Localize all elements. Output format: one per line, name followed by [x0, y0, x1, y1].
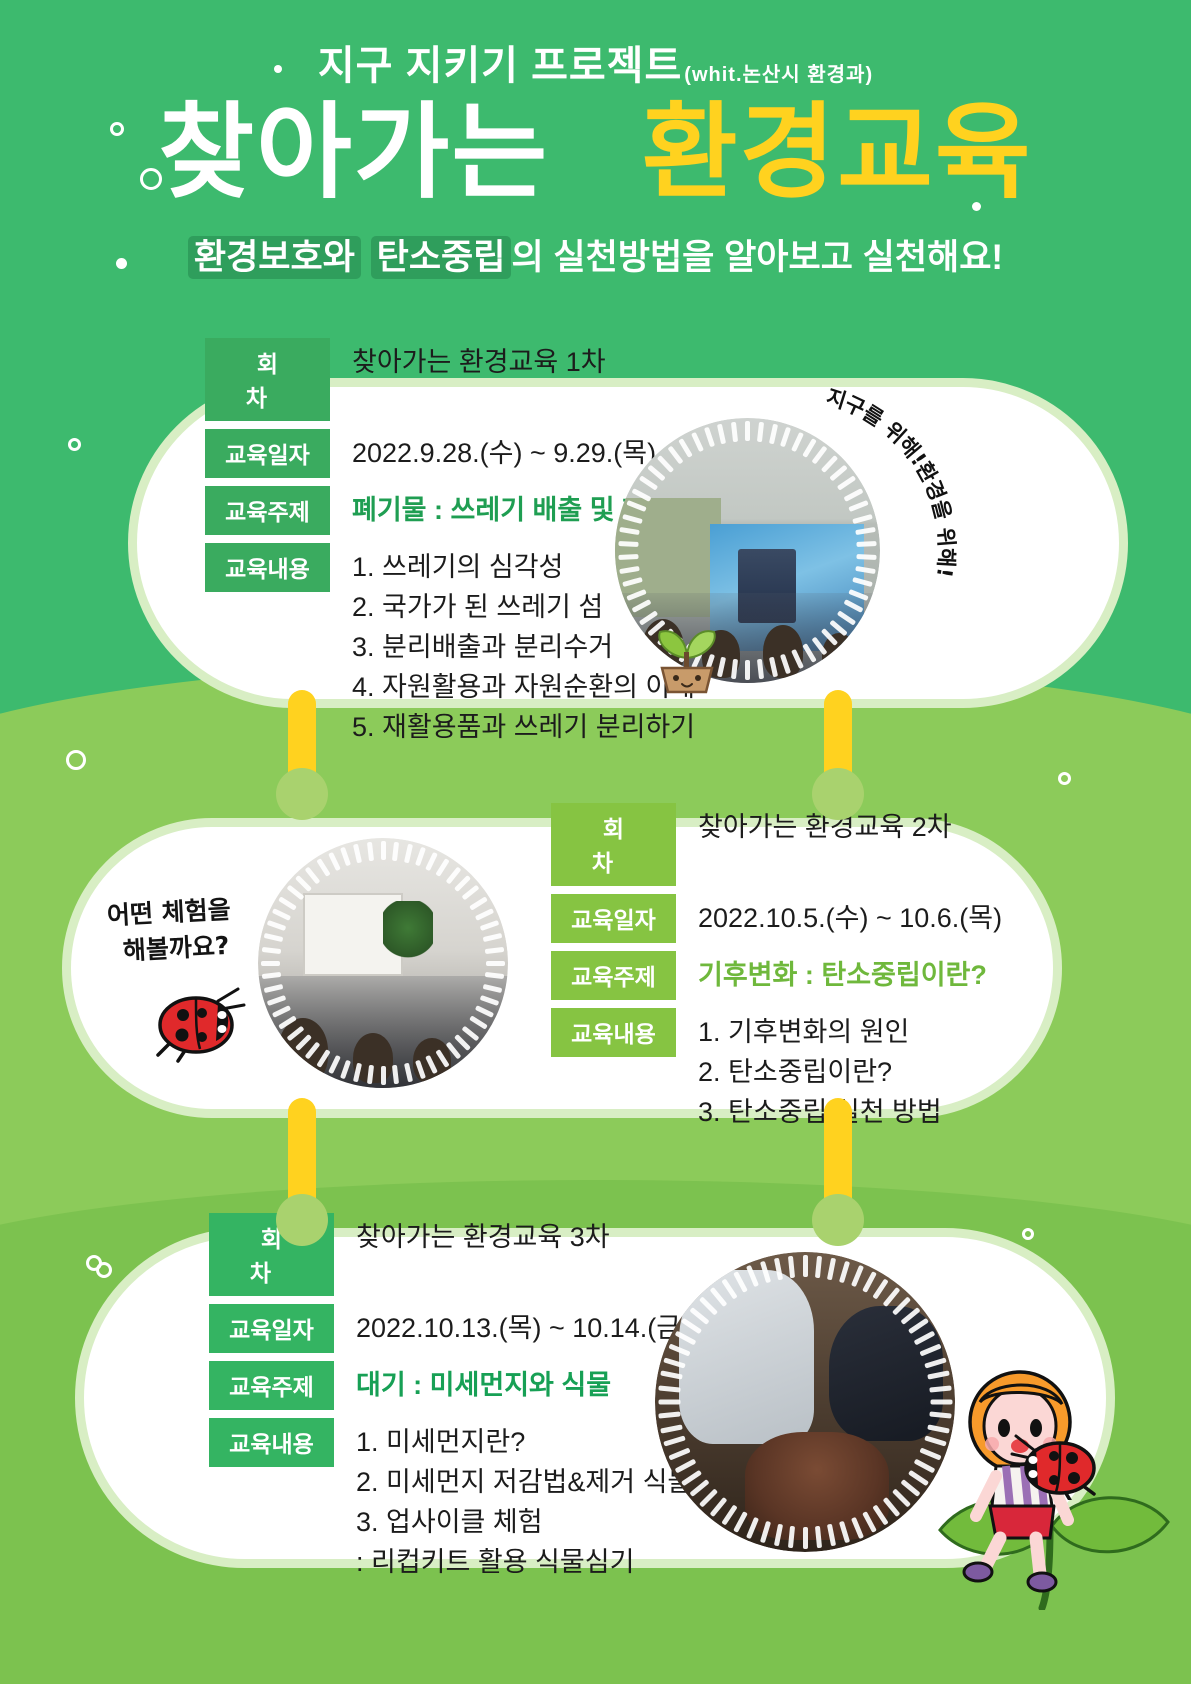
photo-tick — [618, 554, 638, 560]
value-date-2: 2022.10.5.(수) ~ 10.6.(목) — [698, 894, 1002, 937]
photo-tick — [839, 1521, 850, 1544]
label-session-1: 회 차 — [205, 338, 330, 421]
photo-tick — [862, 1511, 877, 1533]
photo-tick — [415, 847, 426, 867]
photo-tick — [316, 1049, 330, 1068]
photo-tick — [415, 1059, 426, 1079]
connector-right-2 — [808, 1098, 868, 1248]
photo-tick — [721, 1505, 737, 1526]
photo-tick — [619, 566, 640, 574]
photo-tick — [802, 643, 817, 663]
photo-tick — [827, 1257, 836, 1280]
handwriting-photo-2-line2: 해볼까요? — [108, 928, 233, 971]
ladybug-icon-2 — [1010, 1430, 1102, 1500]
photo-tick — [829, 619, 847, 636]
label-topic-3: 교육주제 — [209, 1361, 334, 1410]
photo-tick — [261, 947, 280, 954]
photo-tick — [462, 885, 480, 901]
photo-tick — [882, 1497, 900, 1517]
value-topic-3: 대기 : 미세먼지와 식물 — [356, 1361, 611, 1404]
photo-tick — [295, 875, 312, 892]
photo-tick — [660, 1424, 683, 1433]
label-content-2: 교육내용 — [551, 1008, 676, 1057]
photo-tick — [392, 841, 399, 860]
connector-left-1 — [272, 690, 332, 820]
photo-tick — [892, 1296, 911, 1315]
photo-tick — [486, 961, 505, 966]
photo-tick — [475, 1005, 494, 1018]
connector-knob-left-1 — [276, 768, 328, 820]
photo-tick — [658, 1412, 680, 1419]
info-row-date-2: 교육일자 2022.10.5.(수) ~ 10.6.(목) — [551, 894, 1002, 943]
photo-tick — [731, 659, 738, 679]
info-row-date-3: 교육일자 2022.10.13.(목) ~ 10.14.(금) — [209, 1304, 692, 1353]
info-row-session-2: 회 차 찾아가는 환경교육 2차 — [551, 803, 1002, 886]
photo-tick — [328, 1055, 341, 1074]
subtitle-highlight-2: 탄소중립 — [371, 236, 512, 279]
photo-tick — [788, 1526, 795, 1548]
photo-tick — [827, 1524, 836, 1547]
value-date-3: 2022.10.13.(목) ~ 10.14.(금) — [356, 1304, 690, 1347]
photo-tick — [821, 628, 838, 646]
photo-2-tick-ring — [258, 838, 508, 1088]
photo-tick — [815, 1526, 822, 1548]
photo-tick — [381, 841, 386, 860]
photo-tick — [760, 1261, 771, 1284]
photo-tick — [851, 1265, 864, 1287]
photo-tick — [425, 1055, 438, 1074]
photo-tick — [760, 1521, 771, 1544]
photo-tick — [261, 961, 280, 966]
photo-tick — [668, 1343, 690, 1356]
photo-tick — [710, 1497, 728, 1517]
value-session-3: 찾아가는 환경교육 3차 — [356, 1213, 610, 1256]
photo-tick — [691, 432, 704, 452]
info-row-content-3: 교육내용 1. 미세먼지란? 2. 미세먼지 저감법&제거 식물 3. 업사이클… — [209, 1418, 692, 1583]
photo-tick — [699, 1296, 718, 1315]
photo-tick — [667, 446, 683, 465]
photo-tick — [674, 1459, 696, 1474]
handwriting-photo-1-text: 지구를 위해!환경을 위해! — [823, 385, 958, 579]
photo-tick — [660, 1371, 683, 1380]
photo-tick — [445, 1042, 461, 1060]
info-row-session-1: 회 차 찾아가는 환경교육 1차 — [205, 338, 697, 421]
decor-ring-7 — [1022, 1228, 1034, 1240]
session-info-3: 회 차 찾아가는 환경교육 3차 교육일자 2022.10.13.(목) ~ 1… — [209, 1213, 692, 1583]
photo-tick — [803, 1527, 808, 1549]
photo-tick — [788, 1255, 795, 1277]
photo-tick — [626, 500, 646, 512]
photo-tick — [851, 1517, 864, 1539]
photo-tick — [774, 1524, 783, 1547]
photo-tick — [622, 513, 643, 523]
photo-tick — [403, 1063, 412, 1083]
photo-tick — [462, 1025, 480, 1041]
photo-tick — [745, 421, 750, 441]
photo-tick — [733, 1271, 748, 1293]
photo-tick — [657, 455, 674, 473]
photo-tick — [674, 1330, 696, 1345]
photo-tick — [454, 1034, 471, 1051]
info-row-date-1: 교육일자 2022.9.28.(수) ~ 9.29.(목) — [205, 429, 697, 478]
photo-tick — [681, 1318, 702, 1334]
decor-ring-5 — [1058, 772, 1071, 785]
connector-knob-right-2 — [812, 1194, 864, 1246]
value-date-1: 2022.9.28.(수) ~ 9.29.(목) — [352, 429, 656, 472]
photo-tick — [791, 649, 804, 669]
photo-tick — [619, 527, 640, 535]
decor-ring-9 — [96, 1262, 112, 1278]
label-content-3: 교육내용 — [209, 1418, 334, 1467]
photo-tick — [425, 852, 438, 871]
photo-tick — [316, 858, 330, 877]
photo-tick — [803, 1255, 808, 1277]
photo-tick — [340, 1059, 351, 1079]
photo-tick — [263, 933, 283, 942]
info-row-topic-2: 교육주제 기후변화 : 탄소중립이란? — [551, 951, 1002, 1000]
photo-tick — [469, 896, 488, 910]
photo-tick — [668, 1448, 690, 1461]
handwriting-photo-1: 지구를 위해!환경을 위해! — [812, 390, 1032, 620]
photo-tick — [626, 589, 646, 601]
photo-tick — [658, 1385, 680, 1392]
session-info-2: 회 차 찾아가는 환경교육 2차 교육일자 2022.10.5.(수) ~ 10… — [551, 803, 1002, 1133]
photo-tick — [745, 660, 750, 680]
photo-tick — [305, 1042, 321, 1060]
photo-tick — [272, 908, 291, 921]
photo-tick — [305, 866, 321, 884]
photo-tick — [721, 1278, 737, 1299]
photo-tick — [353, 1063, 362, 1083]
photo-tick — [483, 933, 503, 942]
photo-tick — [704, 427, 715, 448]
value-topic-2: 기후변화 : 탄소중립이란? — [698, 951, 987, 994]
photo-tick — [353, 843, 362, 863]
photo-tick — [267, 995, 287, 1006]
photo-tick — [278, 896, 297, 910]
photo-tick — [622, 577, 643, 587]
photo-tick — [774, 1257, 783, 1280]
kicker-text: 지구 지키기 프로젝트 — [318, 44, 682, 88]
photo-tick — [392, 1065, 399, 1084]
photo-tick — [632, 488, 652, 502]
photo-tick — [647, 465, 665, 482]
decor-ring-4 — [66, 750, 86, 770]
decor-ring-3 — [68, 438, 81, 451]
photo-tick — [485, 972, 504, 979]
session-card-2: 회 차 찾아가는 환경교육 2차 교육일자 2022.10.5.(수) ~ 10… — [62, 818, 1062, 1118]
photo-tick — [839, 1261, 850, 1284]
photo-tick — [367, 841, 374, 860]
photo-tick — [381, 1066, 386, 1085]
label-topic-1: 교육주제 — [205, 486, 330, 535]
connector-knob-left-2 — [276, 1194, 328, 1246]
photo-tick — [900, 1307, 920, 1325]
photo-tick — [658, 1400, 680, 1405]
photo-tick — [469, 1016, 488, 1030]
photo-tick — [717, 423, 726, 444]
label-topic-2: 교육주제 — [551, 951, 676, 1000]
kicker-line: 지구 지키기 프로젝트 (whit.논산시 환경과) — [318, 44, 873, 88]
photo-tick — [769, 423, 778, 444]
info-row-topic-3: 교육주제 대기 : 미세먼지와 식물 — [209, 1361, 692, 1410]
page-title: 찾아가는 환경교육 — [0, 100, 1191, 206]
photo-tick — [261, 972, 280, 979]
label-date-3: 교육일자 — [209, 1304, 334, 1353]
value-session-1: 찾아가는 환경교육 1차 — [352, 338, 606, 381]
photo-tick — [872, 1505, 888, 1526]
kicker-organization: (whit.논산시 환경과) — [684, 64, 873, 86]
photo-tick — [267, 920, 287, 931]
photo-tick — [475, 908, 494, 921]
photo-tick — [367, 1065, 374, 1084]
photo-tick — [791, 432, 804, 452]
photo-tick — [479, 920, 499, 931]
photo-tick — [263, 983, 283, 992]
photo-tick — [483, 983, 503, 992]
poster-canvas: 지구 지키기 프로젝트 (whit.논산시 환경과) 찾아가는 환경교육 환경보… — [0, 0, 1191, 1684]
photo-tick — [862, 1271, 877, 1293]
photo-tick — [272, 1005, 291, 1018]
label-content-1: 교육내용 — [205, 543, 330, 592]
photo-tick — [872, 1278, 888, 1299]
photo-tick — [690, 1307, 710, 1325]
photo-tick — [485, 947, 504, 954]
photo-tick — [436, 858, 450, 877]
photo-tick — [403, 843, 412, 863]
photo-tick — [731, 421, 738, 441]
photo-tick — [812, 636, 828, 655]
connector-knob-right-1 — [812, 768, 864, 820]
photo-tick — [769, 657, 778, 678]
photo-tick — [340, 847, 351, 867]
session-photo-2 — [258, 838, 508, 1088]
photo-tick — [436, 1049, 450, 1068]
photo-tick — [639, 476, 658, 491]
photo-tick — [286, 885, 304, 901]
handwriting-photo-2: 어떤 체험을 해볼까요? — [106, 892, 233, 971]
photo-tick — [328, 852, 341, 871]
label-date-1: 교육일자 — [205, 429, 330, 478]
connector-right-1 — [808, 690, 868, 820]
poster-header: 지구 지키기 프로젝트 (whit.논산시 환경과) 찾아가는 환경교육 환경보… — [0, 0, 1191, 280]
sprout-mascot — [648, 612, 726, 694]
photo-tick — [733, 1511, 748, 1533]
photo-tick — [780, 653, 791, 674]
label-date-2: 교육일자 — [551, 894, 676, 943]
subtitle: 환경보호와 탄소중립의 실천방법을 알아보고 실천해요! — [0, 236, 1191, 280]
value-content-3: 1. 미세먼지란? 2. 미세먼지 저감법&제거 식물 3. 업사이클 체험 :… — [356, 1418, 692, 1583]
photo-tick — [278, 1016, 297, 1030]
info-row-content-2: 교육내용 1. 기후변화의 원인 2. 탄소중립이란? 3. 탄소중립 실천 방… — [551, 1008, 1002, 1133]
photo-tick — [664, 1357, 687, 1368]
photo-tick — [618, 541, 638, 547]
label-session-2: 회 차 — [551, 803, 676, 886]
photo-tick — [757, 659, 764, 679]
connector-left-2 — [272, 1098, 332, 1248]
photo-tick — [710, 1287, 728, 1307]
photo-tick — [746, 1517, 759, 1539]
page-title-part2: 환경교육 — [642, 95, 1033, 211]
photo-tick — [679, 438, 694, 458]
subtitle-rest: 의 실천방법을 알아보고 실천해요! — [511, 238, 1003, 277]
photo-tick — [746, 1265, 759, 1287]
subtitle-highlight-1: 환경보호와 — [188, 236, 361, 279]
page-title-part1: 찾아가는 — [158, 95, 549, 211]
photo-tick — [664, 1436, 687, 1447]
photo-tick — [815, 1255, 822, 1277]
photo-tick — [882, 1287, 900, 1307]
ladybug-icon-1 — [152, 985, 248, 1063]
photo-tick — [286, 1025, 304, 1041]
photo-tick — [780, 427, 791, 448]
photo-tick — [445, 866, 461, 884]
photo-tick — [757, 421, 764, 441]
photo-tick — [479, 995, 499, 1006]
